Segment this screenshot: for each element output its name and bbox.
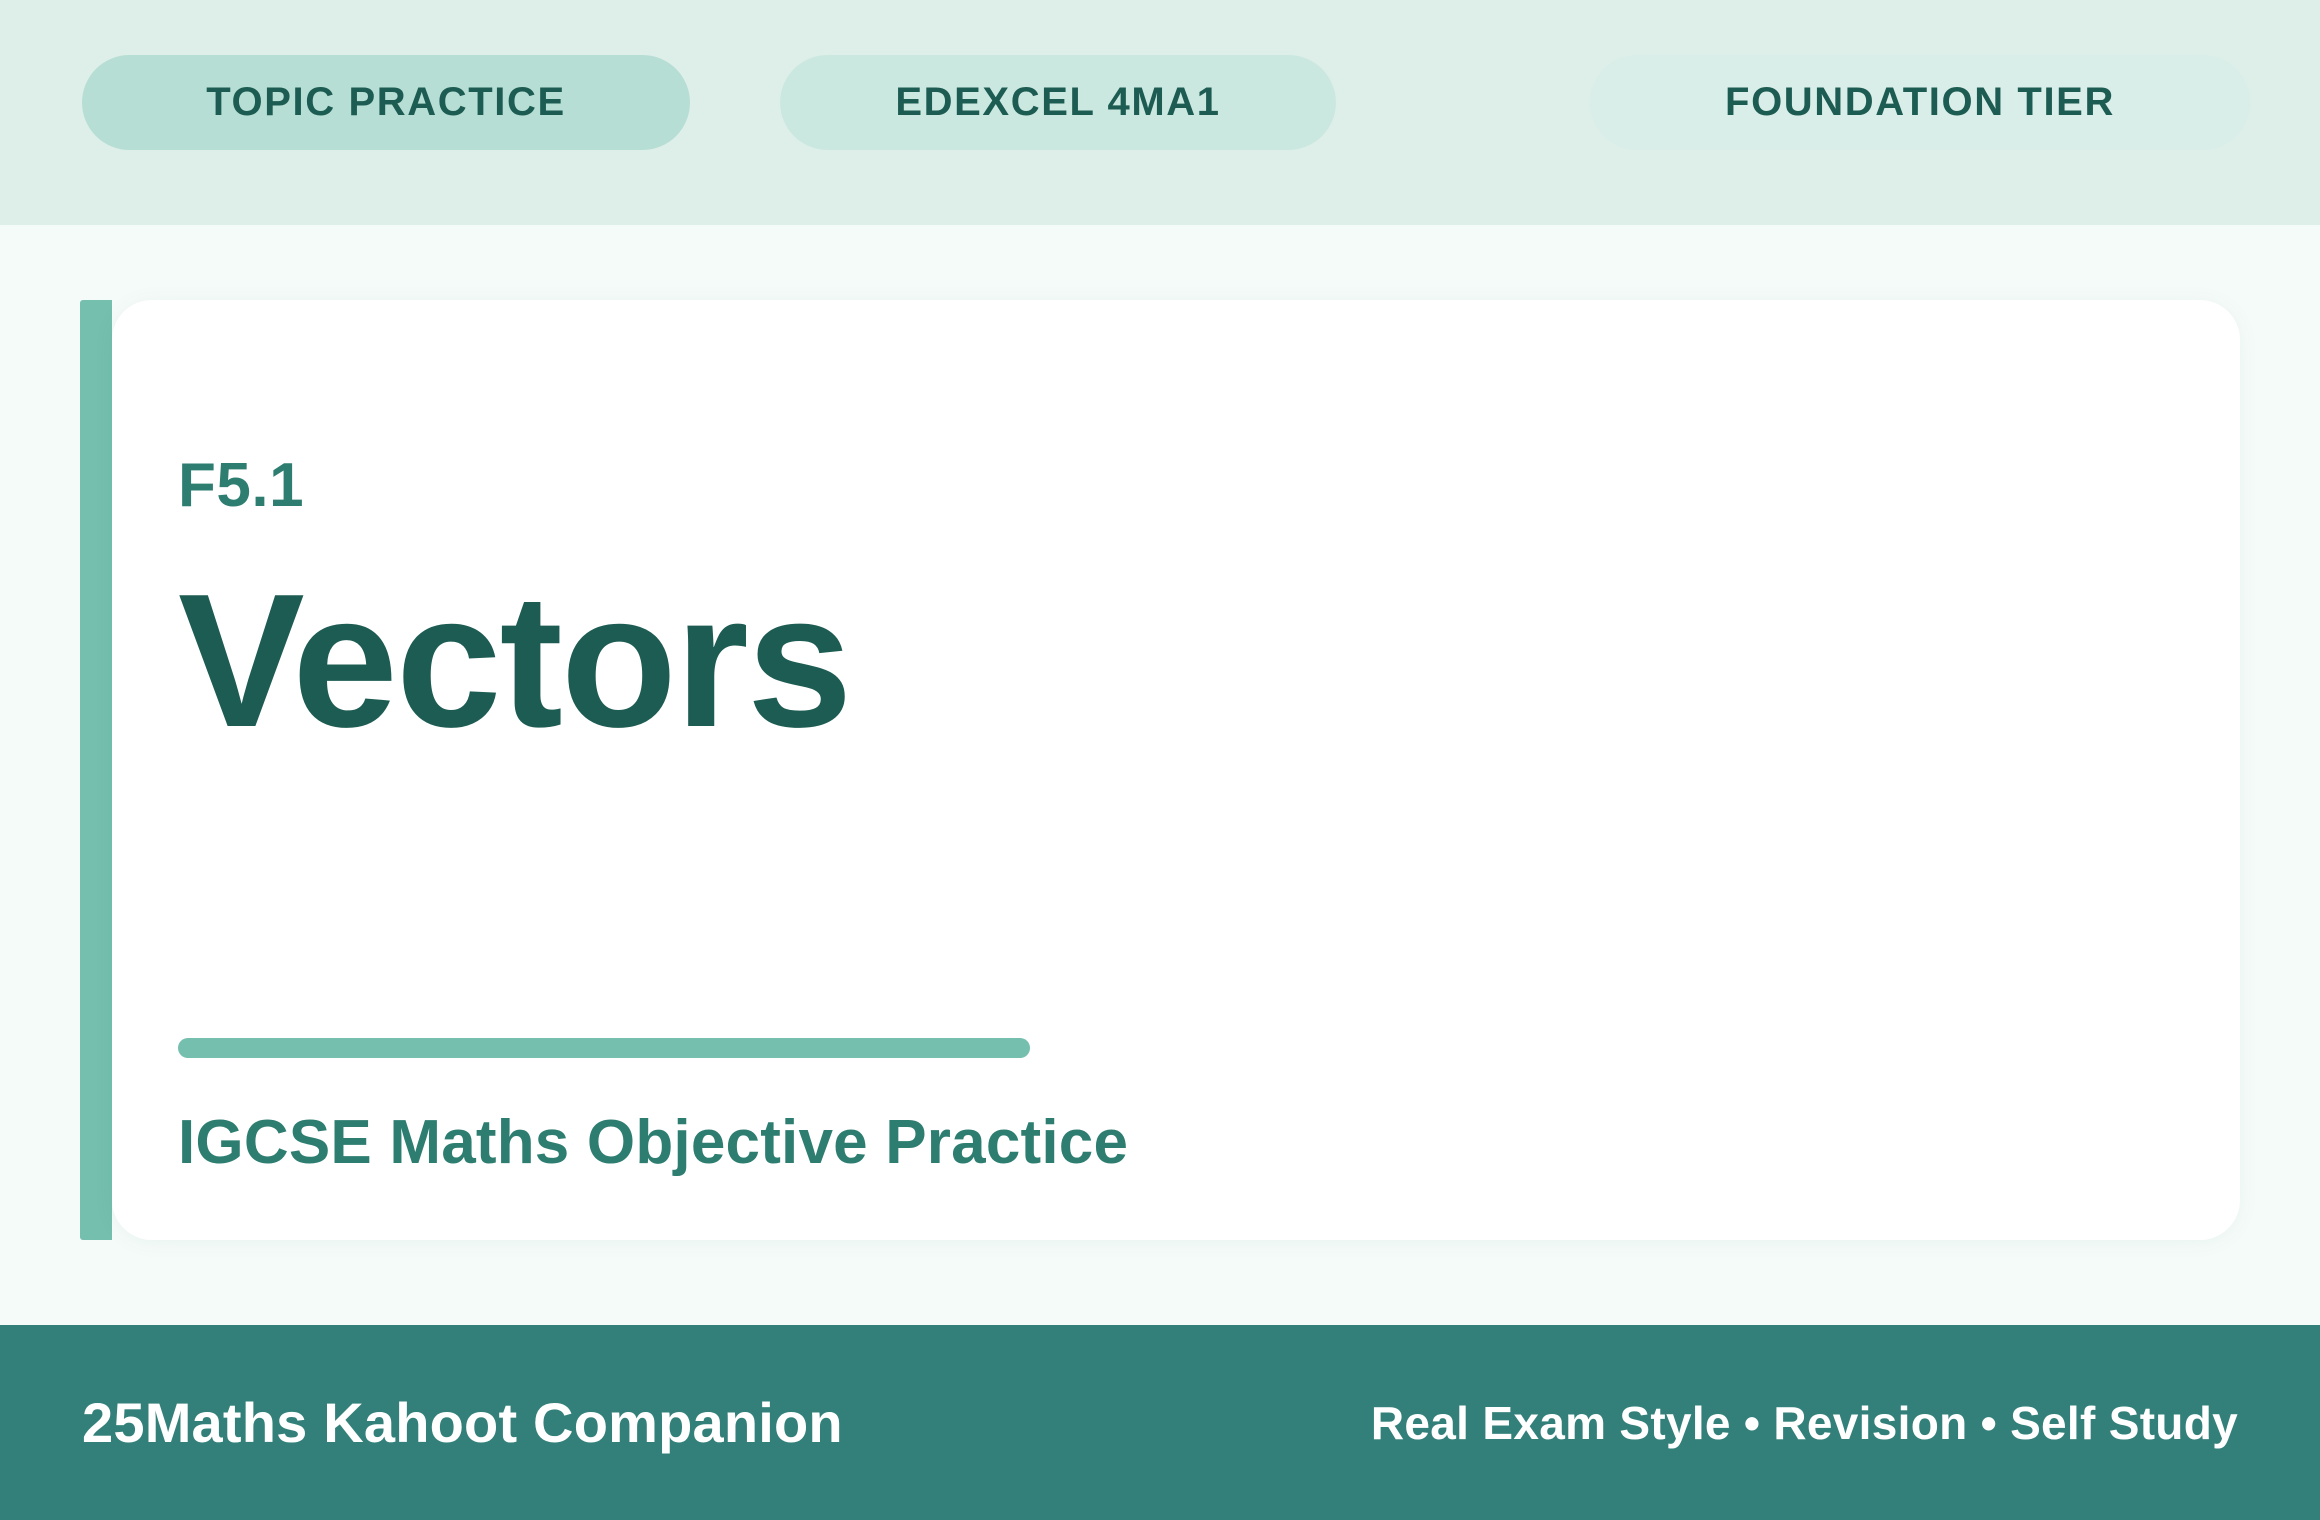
header-band: TOPIC PRACTICE EDEXCEL 4MA1 FOUNDATION T…	[0, 0, 2320, 225]
pill-tier[interactable]: FOUNDATION TIER	[1590, 55, 2250, 150]
main-stage: F5.1 Vectors IGCSE Maths Objective Pract…	[0, 225, 2320, 1325]
footer-tagline: Real Exam Style • Revision • Self Study	[1371, 1396, 2238, 1450]
footer-bar: 25Maths Kahoot Companion Real Exam Style…	[0, 1325, 2320, 1520]
slide-root: TOPIC PRACTICE EDEXCEL 4MA1 FOUNDATION T…	[0, 0, 2320, 1520]
pill-topic-practice[interactable]: TOPIC PRACTICE	[82, 55, 690, 150]
title-card-content: F5.1 Vectors IGCSE Maths Objective Pract…	[178, 300, 2180, 1240]
page-subtitle: IGCSE Maths Objective Practice	[178, 1112, 1128, 1174]
accent-bar	[80, 300, 112, 1240]
topic-code: F5.1	[178, 455, 304, 517]
title-card: F5.1 Vectors IGCSE Maths Objective Pract…	[112, 300, 2240, 1240]
title-divider	[178, 1038, 1030, 1058]
page-title: Vectors	[178, 562, 851, 762]
footer-brand: 25Maths Kahoot Companion	[82, 1390, 843, 1455]
pill-exam-board[interactable]: EDEXCEL 4MA1	[780, 55, 1336, 150]
